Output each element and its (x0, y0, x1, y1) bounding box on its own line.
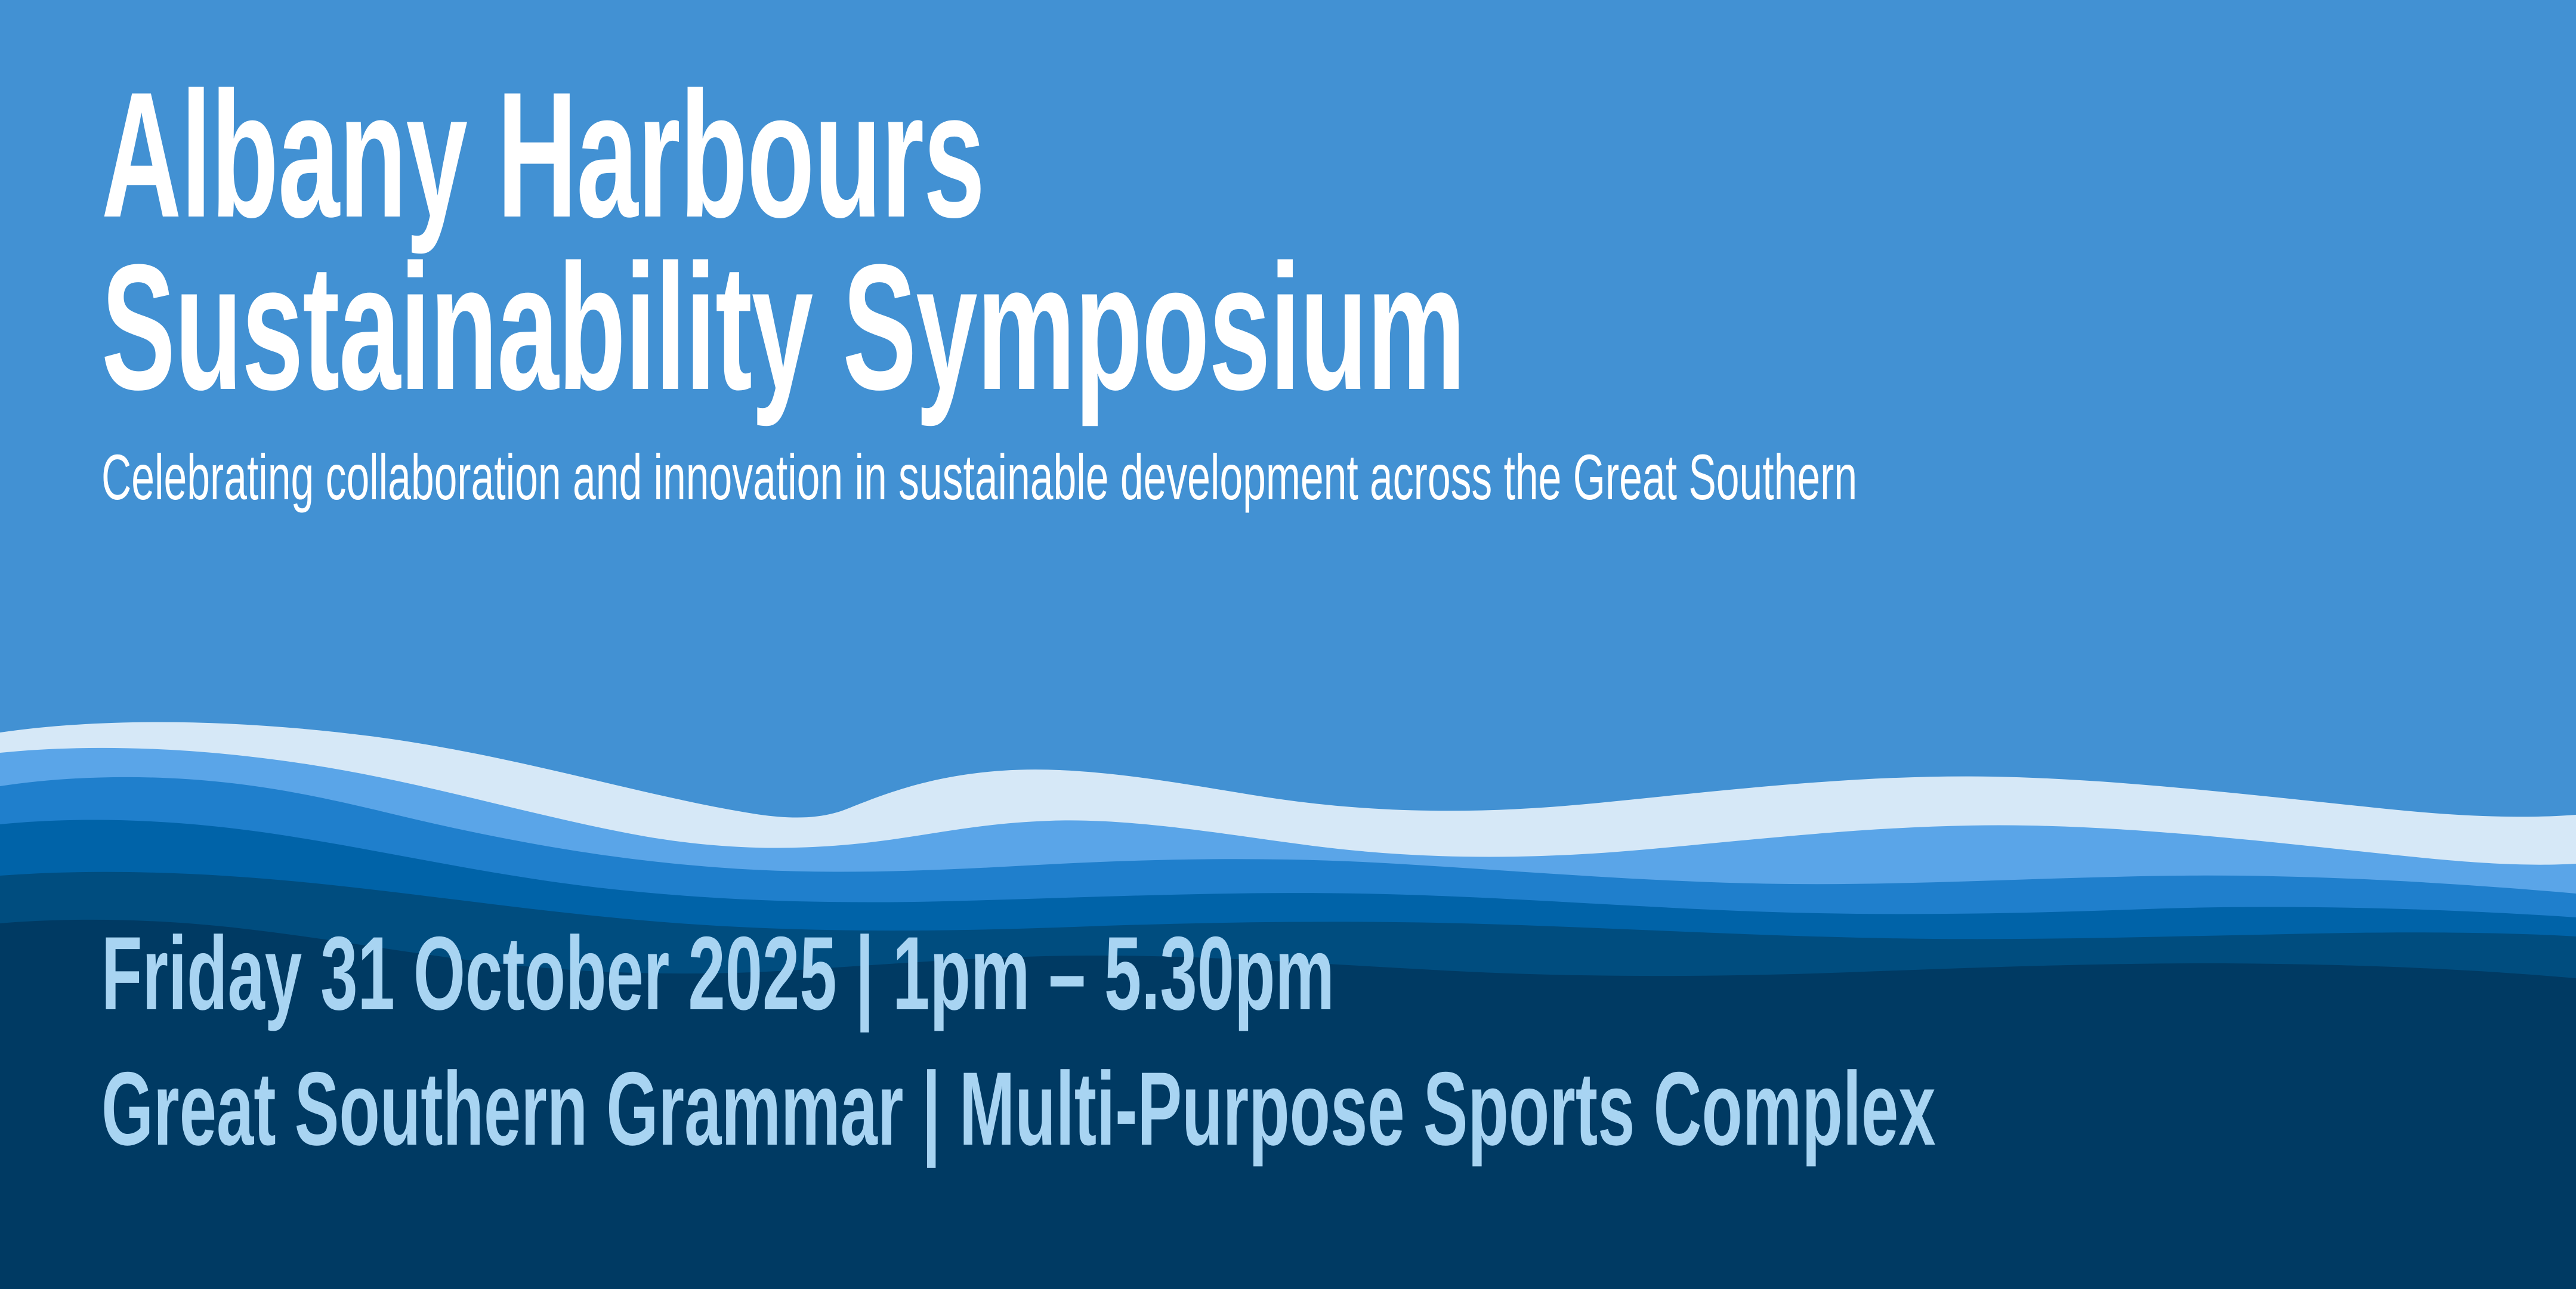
event-title-line-1: Albany Harbours (101, 72, 1581, 238)
event-subtitle: Celebrating collaboration and innovation… (101, 410, 1641, 509)
event-venue: Great Southern Grammar | Multi-Purpose S… (101, 1057, 1667, 1161)
event-banner: Albany Harbours Sustainability Symposium… (0, 0, 2576, 1289)
event-date-time: Friday 31 October 2025 | 1pm – 5.30pm (101, 922, 1667, 1026)
event-title-line-2: Sustainability Symposium (101, 244, 1581, 410)
event-details-block: Friday 31 October 2025 | 1pm – 5.30pm Gr… (101, 922, 2547, 1161)
headline-block: Albany Harbours Sustainability Symposium… (101, 72, 2488, 509)
